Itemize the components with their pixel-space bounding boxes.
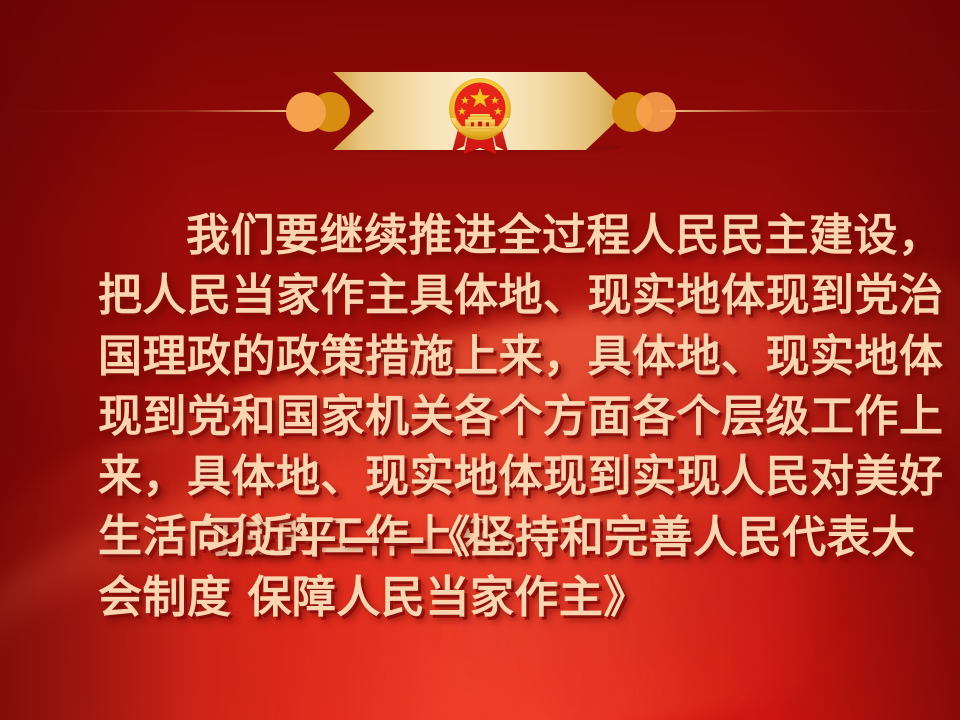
attribution-line: 会制度 保障人民当家作主》 bbox=[98, 568, 862, 628]
attribution-block: 习近平——《坚持和完善人民代表大 会制度 保障人民当家作主》 bbox=[98, 508, 862, 629]
right-dot-decoration bbox=[612, 92, 708, 136]
poster-canvas: 我们要继续推进全过程人民民主建设， 把人民当家作主具体地、现实地体现到党治 国理… bbox=[0, 0, 960, 720]
quote-line: 国理政的政策措施上来，具体地、现实地体 bbox=[98, 327, 862, 387]
dot-light-icon bbox=[636, 92, 676, 132]
attribution-line: 习近平——《坚持和完善人民代表大 bbox=[98, 508, 862, 568]
dot-light-icon bbox=[286, 92, 326, 132]
quote-line: 把人民当家作主具体地、现实地体现到党治 bbox=[98, 266, 862, 326]
quote-line: 我们要继续推进全过程人民民主建设， bbox=[98, 206, 862, 266]
quote-line: 来，具体地、现实地体现到实现人民对美好 bbox=[98, 447, 862, 507]
national-emblem-icon bbox=[438, 62, 522, 158]
quote-line: 现到党和国家机关各个方面各个层级工作上 bbox=[98, 387, 862, 447]
